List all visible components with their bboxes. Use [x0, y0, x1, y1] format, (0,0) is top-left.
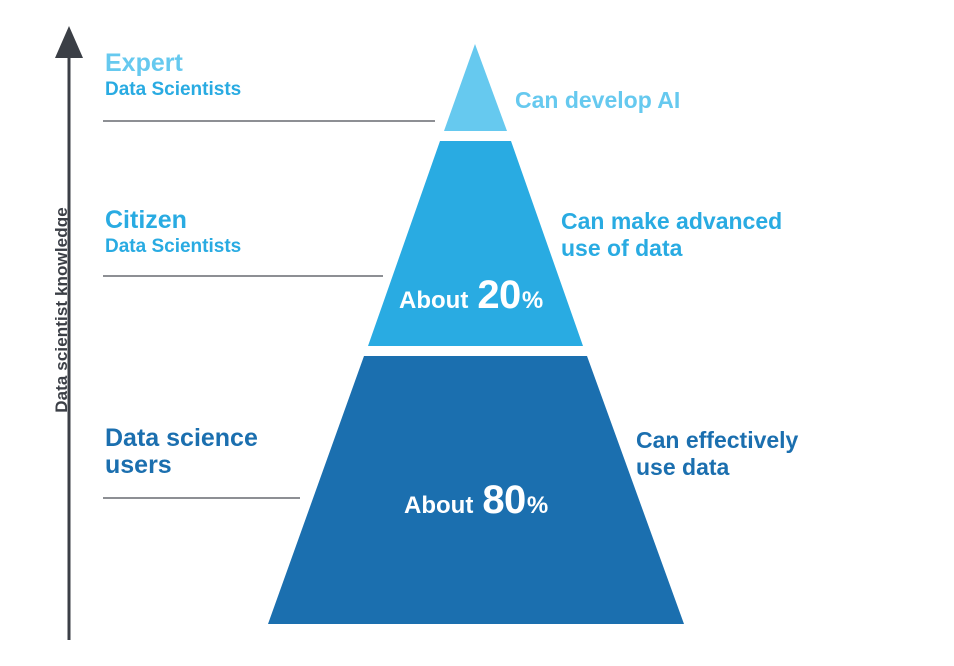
percent-sign-citizen: %	[522, 287, 543, 315]
tier-label-expert: Expert Data Scientists	[105, 50, 241, 100]
percent-value-users: 80	[482, 478, 526, 523]
tier-label-citizen: Citizen Data Scientists	[105, 207, 241, 257]
tier-description-expert: Can develop AI	[515, 87, 680, 114]
axis-label: Data scientist knowledge	[52, 150, 72, 470]
percent-value-citizen: 20	[477, 273, 521, 318]
leader-line-users	[103, 497, 300, 499]
percent-sign-users: %	[527, 492, 548, 520]
tier-percent-users: About 80 %	[404, 478, 548, 523]
tier-title-users: Data science users	[105, 425, 258, 479]
pyramid-diagram: Data scientist knowledge Expert Data Sci…	[0, 0, 954, 666]
tier-title-expert: Expert	[105, 50, 241, 77]
tier-percent-citizen: About 20 %	[399, 273, 543, 318]
leader-line-citizen	[103, 275, 383, 277]
pyramid-tier-expert	[444, 44, 507, 131]
leader-line-expert	[103, 120, 435, 122]
tier-subtitle-citizen: Data Scientists	[105, 236, 241, 257]
tier-description-users: Can effectively use data	[636, 427, 798, 481]
percent-prefix-citizen: About	[399, 287, 468, 315]
tier-description-citizen: Can make advanced use of data	[561, 208, 782, 262]
tier-title-citizen: Citizen	[105, 207, 241, 234]
tier-subtitle-expert: Data Scientists	[105, 79, 241, 100]
tier-label-users: Data science users	[105, 425, 258, 481]
percent-prefix-users: About	[404, 492, 473, 520]
